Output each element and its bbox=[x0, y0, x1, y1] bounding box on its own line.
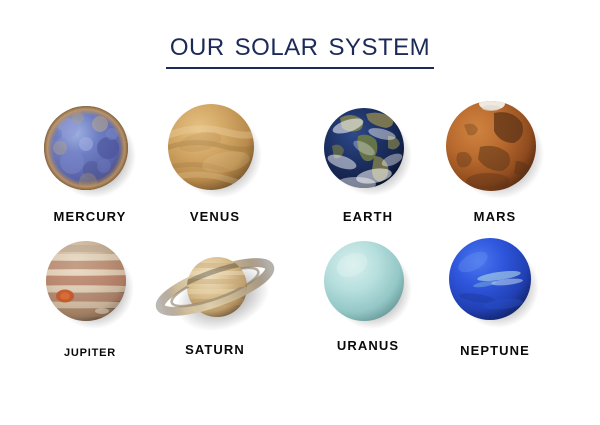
planet-label-saturn: SATURN bbox=[140, 342, 290, 357]
planet-saturn-icon bbox=[153, 237, 277, 341]
planet-neptune-icon bbox=[447, 236, 543, 332]
planet-label-mars: MARS bbox=[420, 209, 570, 224]
page-title: Our solar system bbox=[166, 24, 434, 69]
planet-cell-neptune[interactable]: NEPTUNE bbox=[420, 233, 570, 358]
planet-earth-icon bbox=[322, 106, 414, 198]
planet-mercury-icon bbox=[42, 104, 138, 200]
solar-system-poster: Our solar system bbox=[0, 0, 600, 425]
planet-mars-icon bbox=[444, 99, 546, 201]
planet-row-outer: Jupiter bbox=[0, 233, 600, 358]
planet-label-venus: VENUS bbox=[140, 209, 290, 224]
planet-cell-venus[interactable]: VENUS bbox=[140, 98, 290, 223]
planet-row-inner: MERCURY bbox=[0, 98, 600, 223]
planet-venus-icon bbox=[166, 102, 264, 200]
title-block: Our solar system bbox=[0, 24, 600, 69]
planet-jupiter-icon bbox=[44, 239, 136, 331]
planet-label-neptune: NEPTUNE bbox=[420, 343, 570, 358]
planet-uranus-icon bbox=[322, 239, 414, 331]
planet-cell-saturn[interactable]: SATURN bbox=[140, 233, 290, 358]
planet-cell-mars[interactable]: MARS bbox=[420, 98, 570, 223]
